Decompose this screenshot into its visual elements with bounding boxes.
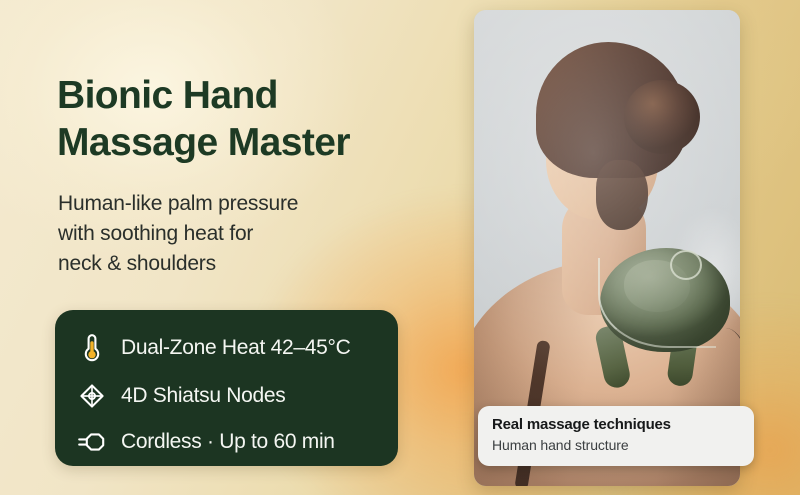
photo-caption-card: Real massage techniques Human hand struc… xyxy=(478,406,754,466)
shiatsu-node-icon xyxy=(77,380,107,412)
feature-row-cordless: Cordless · Up to 60 min xyxy=(77,422,335,462)
page-title: Bionic Hand Massage Master xyxy=(57,72,457,166)
subhead-line-2: with soothing heat for xyxy=(58,219,418,249)
caption-subtitle: Human hand structure xyxy=(492,436,740,455)
cordless-plug-icon xyxy=(77,426,107,458)
feature-label: 4D Shiatsu Nodes xyxy=(121,384,285,408)
feature-label: Cordless · Up to 60 min xyxy=(121,430,335,454)
feature-list-card: Dual-Zone Heat 42–45°C 4D Shiatsu Nodes … xyxy=(55,310,398,466)
subhead-line-3: neck & shoulders xyxy=(58,249,418,279)
thermometer-icon xyxy=(77,332,107,364)
feature-label: Dual-Zone Heat 42–45°C xyxy=(121,336,350,360)
headline-line-1: Bionic Hand xyxy=(57,72,457,119)
feature-row-nodes: 4D Shiatsu Nodes xyxy=(77,376,285,416)
headline-line-2: Massage Master xyxy=(57,119,457,166)
feature-row-heat: Dual-Zone Heat 42–45°C xyxy=(77,328,350,368)
page-subtitle: Human-like palm pressure with soothing h… xyxy=(58,189,418,279)
caption-title: Real massage techniques xyxy=(492,415,740,435)
product-promo-banner: Bionic Hand Massage Master Human-like pa… xyxy=(0,0,800,495)
subhead-line-1: Human-like palm pressure xyxy=(58,189,418,219)
